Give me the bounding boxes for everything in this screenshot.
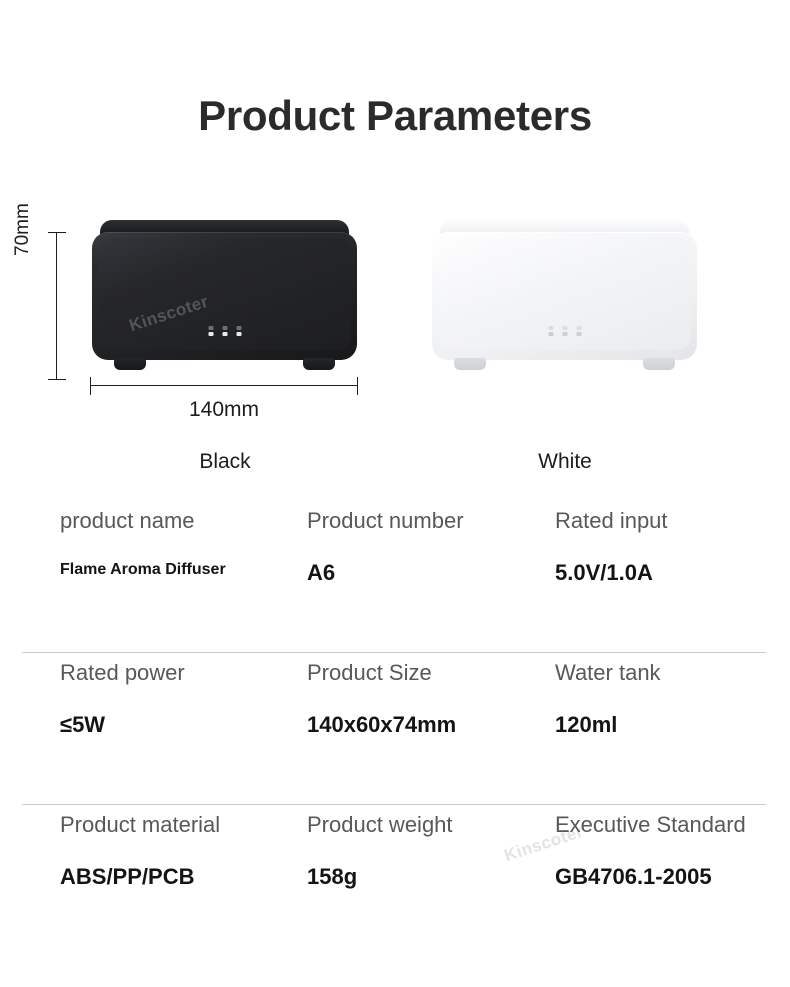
- led-dot: [548, 332, 553, 336]
- spec-value: 140x60x74mm: [307, 712, 456, 738]
- led-indicator-group: [548, 326, 581, 336]
- spec-label: Rated input: [555, 508, 668, 534]
- led-dot: [222, 332, 227, 336]
- product-image-black: Kinscoter: [92, 220, 357, 370]
- width-dimension-label: 140mm: [90, 398, 358, 422]
- device-foot-left: [454, 358, 486, 370]
- spec-value: 5.0V/1.0A: [555, 560, 668, 586]
- spec-cell-product-size: Product Size 140x60x74mm: [307, 660, 456, 739]
- spec-label: Product Size: [307, 660, 456, 686]
- spec-row: Product material ABS/PP/PCB Product weig…: [0, 812, 790, 964]
- spec-cell-executive-standard: Executive Standard GB4706.1-2005: [555, 812, 746, 891]
- spec-cell-product-name: product name Flame Aroma Diffuser: [60, 508, 226, 580]
- product-image-white: [432, 220, 697, 370]
- spec-cell-product-material: Product material ABS/PP/PCB: [60, 812, 220, 891]
- product-showcase: 70mm 140mm Kinscoter: [0, 200, 790, 490]
- device-foot-right: [643, 358, 675, 370]
- spec-value: Flame Aroma Diffuser: [60, 560, 226, 579]
- led-dot: [562, 326, 567, 330]
- device-front-panel: [438, 238, 691, 350]
- spec-cell-rated-power: Rated power ≤5W: [60, 660, 185, 739]
- spec-value: ABS/PP/PCB: [60, 864, 220, 890]
- led-dot: [548, 326, 553, 330]
- led-indicator: [222, 326, 227, 336]
- spec-value: 120ml: [555, 712, 661, 738]
- spec-label: product name: [60, 508, 226, 534]
- spec-label: Product weight: [307, 812, 453, 838]
- spec-label: Rated power: [60, 660, 185, 686]
- row-divider: [22, 652, 766, 653]
- spec-label: Product number: [307, 508, 464, 534]
- spec-cell-water-tank: Water tank 120ml: [555, 660, 661, 739]
- led-indicator-group: [208, 326, 241, 336]
- led-dot: [576, 332, 581, 336]
- spec-label: Product material: [60, 812, 220, 838]
- spec-value: ≤5W: [60, 712, 185, 738]
- spec-label: Executive Standard: [555, 812, 746, 838]
- led-dot: [576, 326, 581, 330]
- device-foot-left: [114, 358, 146, 370]
- spec-cell-product-weight: Product weight 158g: [307, 812, 453, 891]
- brand-watermark: Kinscoter: [127, 292, 211, 336]
- height-dimension-line: [56, 232, 57, 380]
- color-caption-black: Black: [145, 450, 305, 474]
- spec-value: 158g: [307, 864, 453, 890]
- led-indicator: [208, 326, 213, 336]
- led-indicator: [576, 326, 581, 336]
- led-indicator: [236, 326, 241, 336]
- row-divider: [22, 804, 766, 805]
- spec-value: A6: [307, 560, 464, 586]
- page-title: Product Parameters: [0, 92, 790, 140]
- led-dot: [222, 326, 227, 330]
- led-dot: [236, 332, 241, 336]
- spec-table: product name Flame Aroma Diffuser Produc…: [0, 508, 790, 964]
- color-caption-white: White: [485, 450, 645, 474]
- spec-value: GB4706.1-2005: [555, 864, 746, 890]
- spec-label: Water tank: [555, 660, 661, 686]
- spec-row: Kinscoter Rated power ≤5W Product Size 1…: [0, 660, 790, 812]
- spec-cell-product-number: Product number A6: [307, 508, 464, 587]
- device-foot-right: [303, 358, 335, 370]
- led-dot: [562, 332, 567, 336]
- led-indicator: [562, 326, 567, 336]
- device-front-panel: Kinscoter: [98, 238, 351, 350]
- led-dot: [208, 332, 213, 336]
- spec-cell-rated-input: Rated input 5.0V/1.0A: [555, 508, 668, 587]
- spec-row: product name Flame Aroma Diffuser Produc…: [0, 508, 790, 660]
- led-indicator: [548, 326, 553, 336]
- width-dimension-line: [90, 385, 358, 386]
- device-body: [432, 232, 697, 360]
- led-dot: [236, 326, 241, 330]
- height-dimension-label: 70mm: [12, 203, 34, 256]
- led-dot: [208, 326, 213, 330]
- product-parameters-page: Product Parameters 70mm 140mm Kinscoter: [0, 0, 790, 987]
- device-body: Kinscoter: [92, 232, 357, 360]
